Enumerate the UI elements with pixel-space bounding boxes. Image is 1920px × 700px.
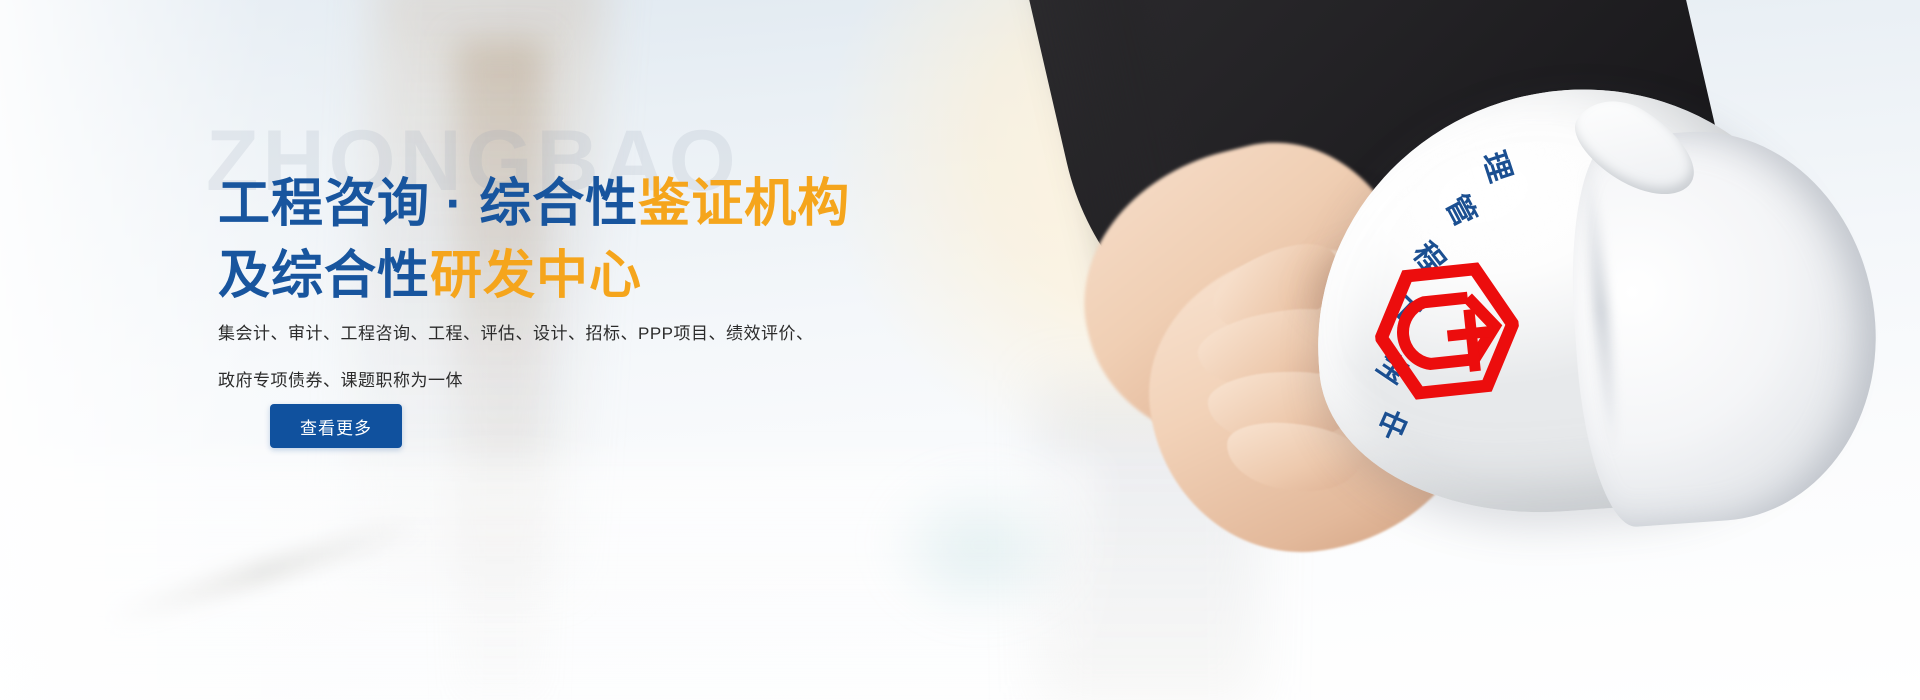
hero-content: ZHONGBAO 工程咨询 · 综合性鉴证机构 及综合性研发中心 集会计、审计、…	[218, 0, 1038, 700]
headline-line-2-blue: 及综合性	[218, 247, 430, 305]
helmet-brim	[1562, 120, 1888, 530]
zhongbao-hexagon-logo-icon	[1369, 259, 1526, 403]
view-more-button[interactable]: 查看更多	[270, 404, 402, 448]
hero-description: 集会计、审计、工程咨询、工程、评估、设计、招标、PPP项目、绩效评价、 政府专项…	[218, 310, 878, 404]
helmet-char-1: 理	[1477, 148, 1515, 186]
headline-line-1-blue: 工程咨询 · 综合性	[218, 175, 638, 233]
description-line-2: 政府专项债券、课题职称为一体	[218, 357, 878, 404]
headline-line-2: 及综合性研发中心	[218, 240, 1018, 312]
hero-banner: 理 管 程 工 宝 中	[0, 0, 1920, 700]
headline-line-1-orange: 鉴证机构	[638, 175, 850, 233]
helmet-char-2: 管	[1440, 191, 1481, 232]
hero-headline: 工程咨询 · 综合性鉴证机构 及综合性研发中心	[218, 168, 1018, 312]
safety-helmet: 理 管 程 工 宝 中	[1275, 90, 1875, 560]
helmet-char-6: 中	[1372, 407, 1412, 447]
headline-line-1: 工程咨询 · 综合性鉴证机构	[218, 168, 1018, 240]
headline-line-2-orange: 研发中心	[430, 247, 642, 305]
description-line-1: 集会计、审计、工程咨询、工程、评估、设计、招标、PPP项目、绩效评价、	[218, 310, 878, 357]
